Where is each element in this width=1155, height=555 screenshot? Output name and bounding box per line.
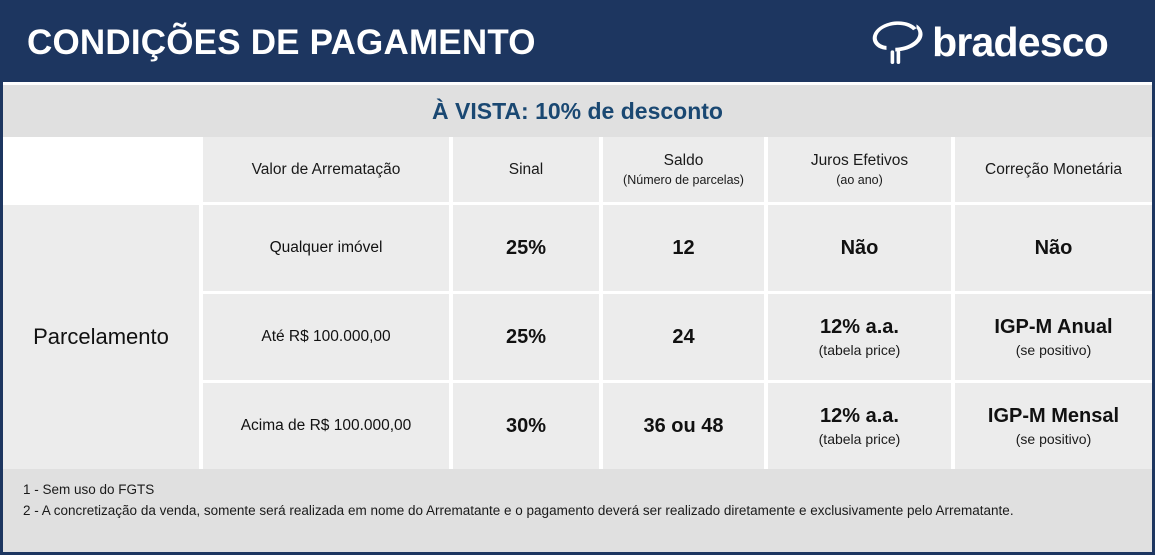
table-row: Acima de R$ 100.000,00 xyxy=(203,383,449,469)
column-header-sinal: Sinal xyxy=(453,137,599,202)
column-header-correcao: Correção Monetária xyxy=(955,137,1152,202)
footnote-1: 1 - Sem uso do FGTS xyxy=(23,480,1152,501)
footnotes-section: 1 - Sem uso do FGTS 2 - A concretização … xyxy=(3,469,1152,552)
table-cell-sinal: 25% xyxy=(453,294,599,380)
discount-banner: À VISTA: 10% de desconto xyxy=(3,85,1152,137)
table-cell-sinal: 30% xyxy=(453,383,599,469)
table-cell-saldo: 36 ou 48 xyxy=(603,383,764,469)
discount-text: À VISTA: 10% de desconto xyxy=(432,98,723,125)
header-bar: CONDIÇÕES DE PAGAMENTO bradesco xyxy=(3,3,1152,82)
table-cell-saldo: 24 xyxy=(603,294,764,380)
row-group-label: Parcelamento xyxy=(3,205,199,469)
conditions-table: Parcelamento Valor de Arrematação Sinal … xyxy=(3,137,1152,469)
table-cell-saldo: 12 xyxy=(603,205,764,291)
page-title: CONDIÇÕES DE PAGAMENTO xyxy=(27,23,536,63)
table-cell-juros: 12% a.a. (tabela price) xyxy=(768,294,951,380)
table-cell-correcao: Não xyxy=(955,205,1152,291)
table-cell-correcao: IGP-M Mensal (se positivo) xyxy=(955,383,1152,469)
table-cell-sinal: 25% xyxy=(453,205,599,291)
table-cell-juros: 12% a.a. (tabela price) xyxy=(768,383,951,469)
table-cell-correcao: IGP-M Anual (se positivo) xyxy=(955,294,1152,380)
bradesco-logo: bradesco xyxy=(871,20,1130,66)
footnote-2: 2 - A concretização da venda, somente se… xyxy=(23,501,1152,522)
payment-conditions-card: CONDIÇÕES DE PAGAMENTO bradesco À VISTA:… xyxy=(0,0,1155,555)
table-row: Qualquer imóvel xyxy=(203,205,449,291)
table-row: Até R$ 100.000,00 xyxy=(203,294,449,380)
bradesco-tree-icon xyxy=(871,20,923,66)
bradesco-wordmark: bradesco xyxy=(932,22,1108,63)
column-header-saldo: Saldo (Número de parcelas) xyxy=(603,137,764,202)
column-header-valor: Valor de Arrematação xyxy=(203,137,449,202)
column-header-juros: Juros Efetivos (ao ano) xyxy=(768,137,951,202)
table-cell-juros: Não xyxy=(768,205,951,291)
